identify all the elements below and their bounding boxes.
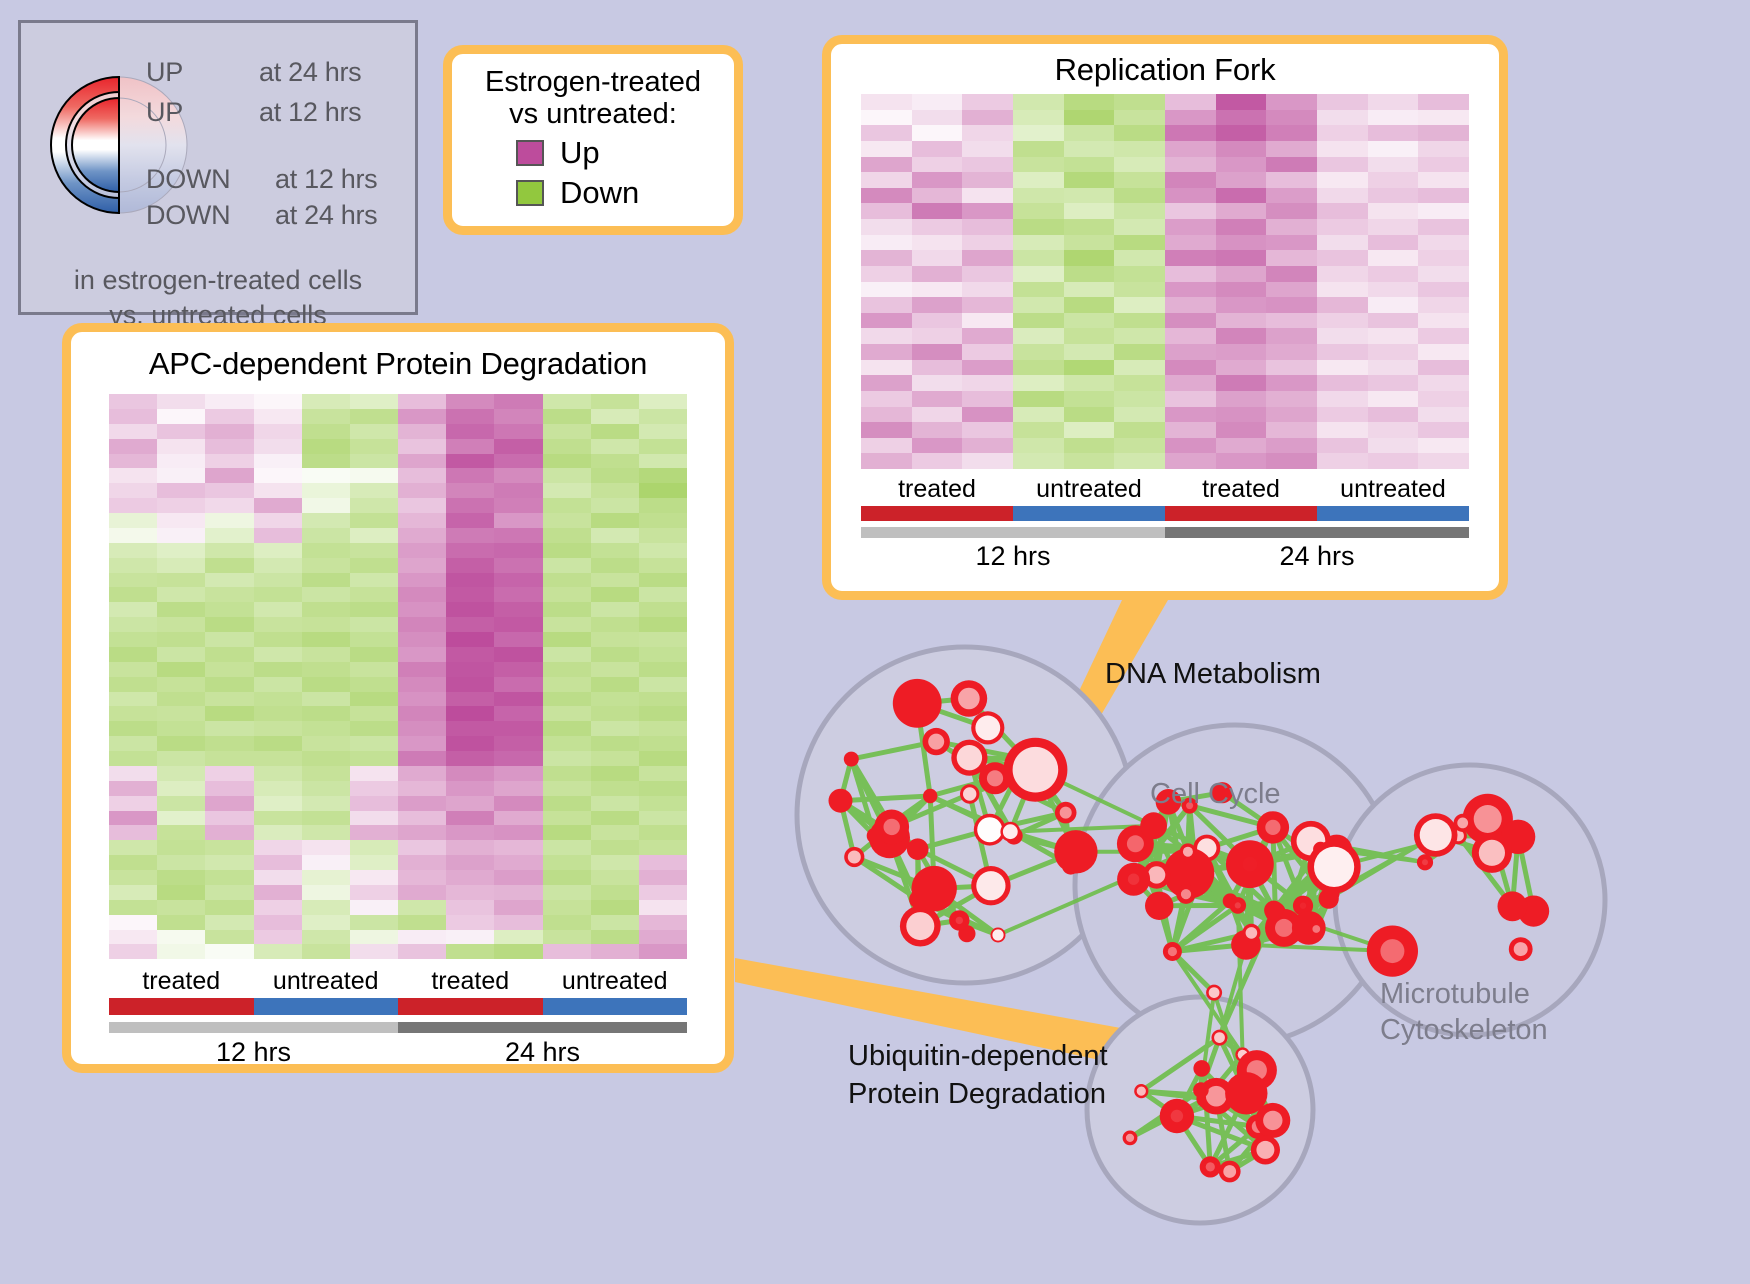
- network-node[interactable]: [1054, 830, 1097, 873]
- heatmap-cell: [109, 498, 157, 513]
- network-node[interactable]: [1193, 1060, 1210, 1077]
- heatmap-cell: [109, 558, 157, 573]
- heatmap-cell: [962, 188, 1013, 204]
- heatmap-cell: [157, 424, 205, 439]
- heatmap-cell: [446, 424, 494, 439]
- heatmap-cell: [639, 558, 687, 573]
- heatmap-cell: [861, 219, 912, 235]
- network-node-core: [1312, 925, 1320, 933]
- heatmap-cell: [1114, 110, 1165, 126]
- heatmap-cell: [1216, 266, 1267, 282]
- heatmap-cell: [591, 766, 639, 781]
- heatmap-row: [109, 498, 687, 513]
- heatmap-cell: [109, 424, 157, 439]
- network-node-core: [1013, 747, 1059, 793]
- heatmap-cell: [157, 915, 205, 930]
- heatmap-cell: [1114, 172, 1165, 188]
- heatmap-cell: [254, 855, 302, 870]
- heatmap-cell: [1064, 453, 1115, 469]
- heatmap-row: [109, 930, 687, 945]
- heatmap-cell: [1368, 453, 1419, 469]
- group-color-bar: [398, 998, 543, 1015]
- heatmap-cell: [157, 454, 205, 469]
- heatmap-cell: [350, 632, 398, 647]
- heatmap-cell: [1216, 360, 1267, 376]
- heatmap-cell: [1013, 344, 1064, 360]
- heatmap-cell: [1114, 157, 1165, 173]
- heatmap-cell: [543, 632, 591, 647]
- heatmap-cell: [109, 930, 157, 945]
- heatmap-cell: [962, 172, 1013, 188]
- network-svg: [780, 600, 1750, 1279]
- heatmap-cell: [157, 647, 205, 662]
- heatmap-cell: [205, 498, 253, 513]
- network-node[interactable]: [844, 752, 859, 767]
- heatmap-cell: [494, 840, 542, 855]
- heatmap-cell: [543, 528, 591, 543]
- heatmap-cell: [109, 811, 157, 826]
- heatmap-cell: [1064, 125, 1115, 141]
- heatmap-cell: [1418, 203, 1469, 219]
- heatmap-cell: [254, 573, 302, 588]
- heatmap-cell: [254, 796, 302, 811]
- heatmap-cell: [1368, 344, 1419, 360]
- heatmap-cell: [591, 811, 639, 826]
- heatmap-cell: [1368, 203, 1419, 219]
- heatmap-cell: [302, 930, 350, 945]
- heatmap-cell: [109, 439, 157, 454]
- heatmap-cell: [1114, 235, 1165, 251]
- heatmap-cell: [1368, 375, 1419, 391]
- heatmap-cell: [591, 439, 639, 454]
- heatmap-cell: [1368, 94, 1419, 110]
- heatmap-cell: [639, 855, 687, 870]
- heatmap-cell: [109, 409, 157, 424]
- network-node-core: [1265, 820, 1280, 835]
- heatmap-cell: [494, 528, 542, 543]
- heatmap-row: [109, 855, 687, 870]
- group-color-bar: [543, 998, 688, 1015]
- heatmap-cell: [1368, 250, 1419, 266]
- network-node[interactable]: [1145, 892, 1173, 920]
- heatmap-cell: [1064, 328, 1115, 344]
- heatmap-cell: [639, 766, 687, 781]
- heatmap-cell: [302, 692, 350, 707]
- network-node[interactable]: [1140, 812, 1167, 839]
- heatmap-cell: [912, 157, 963, 173]
- heatmap-cell: [591, 617, 639, 632]
- heatmap-row: [861, 203, 1469, 219]
- heatmap-row: [109, 528, 687, 543]
- network-node[interactable]: [923, 789, 937, 803]
- heatmap-cell: [398, 439, 446, 454]
- heatmap-cell: [1368, 391, 1419, 407]
- heatmap-cell: [350, 900, 398, 915]
- network-node[interactable]: [829, 789, 853, 813]
- heatmap-cell: [302, 498, 350, 513]
- heatmap-cell: [543, 796, 591, 811]
- heatmap-cell: [1317, 438, 1368, 454]
- heatmap-cell: [639, 840, 687, 855]
- heatmap-cell: [398, 811, 446, 826]
- heatmap-cell: [1317, 360, 1368, 376]
- time-color-bar: [861, 527, 1165, 538]
- heatmap-cell: [398, 528, 446, 543]
- heatmap-cell: [205, 766, 253, 781]
- heatmap-cell: [1013, 391, 1064, 407]
- heatmap-row: [109, 558, 687, 573]
- heatmap-cell: [591, 751, 639, 766]
- heatmap-cell: [962, 282, 1013, 298]
- heatmap-row: [861, 344, 1469, 360]
- heatmap-cell: [1013, 172, 1064, 188]
- heatmap-cell: [543, 498, 591, 513]
- heatmap-cell: [1165, 375, 1216, 391]
- heatmap-cell: [962, 297, 1013, 313]
- heatmap-cell: [1064, 172, 1115, 188]
- heatmap-cell: [1013, 313, 1064, 329]
- heatmap-cell: [591, 528, 639, 543]
- heatmap-row: [109, 885, 687, 900]
- network-node[interactable]: [912, 866, 957, 911]
- heatmap-cell: [157, 677, 205, 692]
- heatmap-cell: [1064, 282, 1115, 298]
- network-node-core: [1003, 824, 1018, 839]
- heatmap-cell: [1216, 328, 1267, 344]
- heatmap-cell: [639, 543, 687, 558]
- heatmap-cell: [1368, 313, 1419, 329]
- heatmap-cell: [302, 870, 350, 885]
- heatmap-cell: [398, 617, 446, 632]
- heatmap-cell: [1317, 453, 1368, 469]
- apc-time-labels: 12 hrs24 hrs: [109, 1037, 687, 1068]
- network-node[interactable]: [867, 828, 883, 844]
- heatmap-cell: [1317, 344, 1368, 360]
- heatmap-cell: [1216, 157, 1267, 173]
- heatmap-cell: [912, 360, 963, 376]
- heatmap-cell: [254, 870, 302, 885]
- heatmap-cell: [1064, 203, 1115, 219]
- heatmap-cell: [639, 930, 687, 945]
- heatmap-cell: [350, 394, 398, 409]
- heatmap-cell: [1418, 110, 1469, 126]
- heatmap-cell: [912, 94, 963, 110]
- heatmap-cell: [254, 602, 302, 617]
- heatmap-cell: [398, 394, 446, 409]
- heatmap-cell: [302, 825, 350, 840]
- heatmap-cell: [398, 870, 446, 885]
- heatmap-cell: [398, 796, 446, 811]
- heatmap-cell: [1317, 125, 1368, 141]
- network-node-core: [906, 912, 934, 940]
- heatmap-cell: [1317, 297, 1368, 313]
- heatmap-cell: [254, 766, 302, 781]
- ring-row-2-time: at 12 hrs: [275, 164, 377, 195]
- heatmap-row: [109, 692, 687, 707]
- heatmap-cell: [639, 498, 687, 513]
- heatmap-cell: [398, 587, 446, 602]
- heatmap-cell: [543, 602, 591, 617]
- heatmap-cell: [398, 885, 446, 900]
- heatmap-row: [109, 483, 687, 498]
- heatmap-cell: [398, 751, 446, 766]
- apc-group-labels: treateduntreatedtreateduntreated: [109, 967, 687, 996]
- heatmap-cell: [157, 483, 205, 498]
- heatmap-cell: [157, 602, 205, 617]
- heatmap-cell: [109, 825, 157, 840]
- heatmap-cell: [639, 409, 687, 424]
- heatmap-cell: [1418, 407, 1469, 423]
- heatmap-cell: [591, 736, 639, 751]
- heatmap-cell: [254, 751, 302, 766]
- heatmap-cell: [157, 498, 205, 513]
- heatmap-cell: [1418, 297, 1469, 313]
- heatmap-cell: [1114, 391, 1165, 407]
- heatmap-cell: [591, 781, 639, 796]
- heatmap-cell: [205, 692, 253, 707]
- heatmap-cell: [446, 543, 494, 558]
- heatmap-cell: [302, 944, 350, 959]
- heatmap-cell: [254, 424, 302, 439]
- heatmap-cell: [157, 751, 205, 766]
- heatmap-cell: [1368, 438, 1419, 454]
- heatmap-cell: [1216, 203, 1267, 219]
- network-node[interactable]: [907, 838, 929, 860]
- heatmap-cell: [254, 439, 302, 454]
- heatmap-cell: [109, 394, 157, 409]
- heatmap-cell: [398, 662, 446, 677]
- heatmap-cell: [1114, 125, 1165, 141]
- heatmap-cell: [302, 811, 350, 826]
- heatmap-cell: [543, 483, 591, 498]
- heatmap-cell: [157, 587, 205, 602]
- network-node-core: [848, 851, 861, 864]
- heatmap-cell: [205, 677, 253, 692]
- heatmap-row: [109, 513, 687, 528]
- heatmap-cell: [205, 706, 253, 721]
- heatmap-cell: [1165, 344, 1216, 360]
- heatmap-cell: [446, 825, 494, 840]
- heatmap-row: [861, 235, 1469, 251]
- heatmap-cell: [446, 647, 494, 662]
- heatmap-cell: [109, 662, 157, 677]
- apc-degradation-title: APC-dependent Protein Degradation: [71, 346, 725, 382]
- heatmap-cell: [446, 885, 494, 900]
- heatmap-cell: [1418, 422, 1469, 438]
- heatmap-cell: [157, 617, 205, 632]
- heatmap-cell: [205, 840, 253, 855]
- heatmap-cell: [494, 855, 542, 870]
- heatmap-cell: [1216, 110, 1267, 126]
- ring-row-1-direction: UP: [146, 97, 183, 128]
- heatmap-row: [109, 840, 687, 855]
- heatmap-cell: [1013, 125, 1064, 141]
- heatmap-cell: [157, 573, 205, 588]
- heatmap-cell: [962, 313, 1013, 329]
- heatmap-cell: [861, 141, 912, 157]
- heatmap-cell: [254, 825, 302, 840]
- heatmap-cell: [1064, 110, 1115, 126]
- heatmap-cell: [639, 632, 687, 647]
- heatmap-cell: [912, 188, 963, 204]
- heatmap-row: [109, 394, 687, 409]
- network-node-core: [1479, 840, 1505, 866]
- ring-row-1-time: at 12 hrs: [259, 97, 361, 128]
- heatmap-cell: [205, 424, 253, 439]
- heatmap-cell: [494, 543, 542, 558]
- heatmap-cell: [446, 498, 494, 513]
- heatmap-cell: [1368, 328, 1419, 344]
- heatmap-cell: [962, 453, 1013, 469]
- heatmap-cell: [1064, 422, 1115, 438]
- label-microtubule-line1: Microtubule: [1380, 978, 1530, 1011]
- heatmap-cell: [543, 885, 591, 900]
- heatmap-cell: [1317, 110, 1368, 126]
- heatmap-cell: [254, 677, 302, 692]
- heatmap-cell: [861, 407, 912, 423]
- heatmap-cell: [639, 647, 687, 662]
- heatmap-cell: [1013, 360, 1064, 376]
- heatmap-cell: [1013, 157, 1064, 173]
- heatmap-cell: [494, 900, 542, 915]
- heatmap-cell: [494, 796, 542, 811]
- heatmap-cell: [398, 766, 446, 781]
- heatmap-cell: [398, 944, 446, 959]
- heatmap-cell: [639, 424, 687, 439]
- heatmap-cell: [639, 736, 687, 751]
- heatmap-cell: [1064, 360, 1115, 376]
- heatmap-cell: [302, 558, 350, 573]
- heatmap-cell: [912, 203, 963, 219]
- heatmap-cell: [1114, 203, 1165, 219]
- heatmap-row: [109, 825, 687, 840]
- heatmap-cell: [1064, 266, 1115, 282]
- heatmap-cell: [639, 721, 687, 736]
- heatmap-cell: [861, 235, 912, 251]
- heatmap-row: [861, 422, 1469, 438]
- ring-legend-footer: in estrogen-treated cells vs. untreated …: [21, 263, 415, 332]
- heatmap-cell: [302, 781, 350, 796]
- network-node[interactable]: [1498, 891, 1528, 921]
- heatmap-cell: [350, 781, 398, 796]
- heatmap-cell: [494, 885, 542, 900]
- heatmap-cell: [1064, 141, 1115, 157]
- network-node[interactable]: [1264, 901, 1283, 920]
- replication-fork-time-labels: 12 hrs24 hrs: [861, 541, 1469, 572]
- heatmap-cell: [1418, 172, 1469, 188]
- heatmap-row: [861, 297, 1469, 313]
- heatmap-cell: [912, 235, 963, 251]
- down-label: Down: [560, 175, 639, 211]
- heatmap-cell: [350, 543, 398, 558]
- heatmap-cell: [1013, 422, 1064, 438]
- heatmap-cell: [912, 438, 963, 454]
- heatmap-cell: [205, 483, 253, 498]
- heatmap-cell: [205, 855, 253, 870]
- heatmap-cell: [398, 543, 446, 558]
- heatmap-row: [861, 391, 1469, 407]
- heatmap-cell: [1165, 422, 1216, 438]
- heatmap-cell: [1266, 453, 1317, 469]
- heatmap-cell: [639, 528, 687, 543]
- heatmap-cell: [912, 453, 963, 469]
- heatmap-cell: [398, 825, 446, 840]
- heatmap-cell: [1317, 266, 1368, 282]
- heatmap-row: [109, 721, 687, 736]
- heatmap-cell: [962, 219, 1013, 235]
- heatmap-cell: [639, 944, 687, 959]
- heatmap-cell: [494, 811, 542, 826]
- heatmap-cell: [109, 573, 157, 588]
- heatmap-cell: [350, 513, 398, 528]
- heatmap-cell: [1216, 188, 1267, 204]
- heatmap-cell: [205, 587, 253, 602]
- heatmap-cell: [639, 439, 687, 454]
- heatmap-cell: [205, 900, 253, 915]
- heatmap-cell: [398, 915, 446, 930]
- label-ubiquitin-line1: Ubiquitin-dependent: [848, 1040, 1108, 1073]
- heatmap-cell: [446, 513, 494, 528]
- heatmap-cell: [446, 706, 494, 721]
- heatmap-cell: [254, 513, 302, 528]
- heatmap-cell: [639, 915, 687, 930]
- heatmap-cell: [543, 811, 591, 826]
- heatmap-cell: [1266, 360, 1317, 376]
- heatmap-cell: [494, 409, 542, 424]
- group-label: untreated: [1013, 475, 1165, 504]
- heatmap-cell: [446, 870, 494, 885]
- group-color-bar: [861, 506, 1013, 521]
- heatmap-cell: [109, 632, 157, 647]
- heatmap-cell: [912, 282, 963, 298]
- heatmap-cell: [254, 721, 302, 736]
- heatmap-row: [861, 219, 1469, 235]
- time-label: 12 hrs: [109, 1037, 398, 1068]
- heatmap-row: [109, 647, 687, 662]
- heatmap-cell: [1317, 391, 1368, 407]
- heatmap-cell: [157, 394, 205, 409]
- heatmap-cell: [591, 498, 639, 513]
- network-node-core: [956, 917, 963, 924]
- network-node-core: [1457, 818, 1468, 829]
- heatmap-cell: [1114, 344, 1165, 360]
- replication-fork-group-bar: [861, 506, 1469, 521]
- heatmap-row: [861, 360, 1469, 376]
- heatmap-cell: [157, 825, 205, 840]
- heatmap-cell: [543, 900, 591, 915]
- network-node-core: [1168, 947, 1177, 956]
- heatmap-cell: [302, 602, 350, 617]
- heatmap-cell: [861, 422, 912, 438]
- heatmap-cell: [350, 558, 398, 573]
- heatmap-cell: [1114, 453, 1165, 469]
- heatmap-cell: [1114, 188, 1165, 204]
- heatmap-cell: [543, 855, 591, 870]
- heatmap-cell: [350, 855, 398, 870]
- network-node[interactable]: [1193, 1082, 1209, 1098]
- heatmap-cell: [254, 468, 302, 483]
- heatmap-cell: [109, 602, 157, 617]
- heatmap-cell: [639, 870, 687, 885]
- network-node-core: [1420, 819, 1452, 851]
- heatmap-cell: [639, 468, 687, 483]
- heatmap-cell: [254, 617, 302, 632]
- heatmap-cell: [302, 885, 350, 900]
- network-node[interactable]: [893, 679, 942, 728]
- network-node-core: [884, 819, 900, 835]
- heatmap-cell: [591, 900, 639, 915]
- heatmap-cell: [1064, 94, 1115, 110]
